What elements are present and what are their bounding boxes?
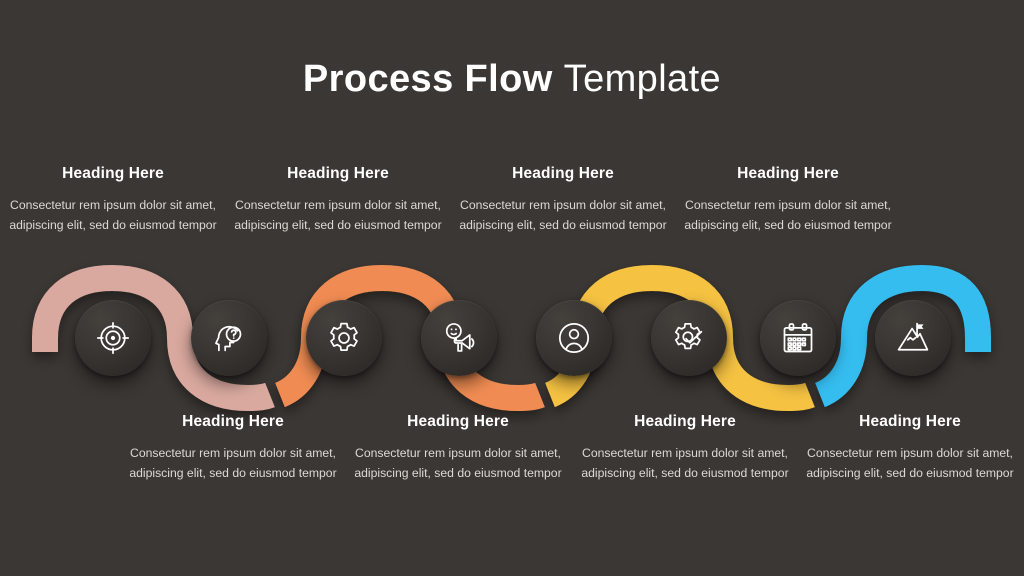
title-light-part: Template (564, 58, 721, 100)
step-text-7: Heading Here Consectetur rem ipsum dolor… (675, 165, 901, 236)
step-text-6: Heading Here Consectetur rem ipsum dolor… (572, 413, 798, 484)
step-heading-3: Heading Here (225, 165, 451, 183)
step-heading-1: Heading Here (0, 165, 226, 183)
page-title: Process Flow Template (0, 58, 1024, 101)
title-bold-part: Process Flow (303, 58, 553, 100)
step-heading-2: Heading Here (120, 413, 346, 431)
step-heading-4: Heading Here (345, 413, 571, 431)
step-node-1[interactable] (75, 300, 151, 376)
megaphone-icon (441, 320, 477, 356)
step-text-1: Heading Here Consectetur rem ipsum dolor… (0, 165, 226, 236)
step-body-5: Consectetur rem ipsum dolor sit amet, ad… (450, 196, 676, 236)
target-icon (95, 320, 131, 356)
step-body-1: Consectetur rem ipsum dolor sit amet, ad… (0, 196, 226, 236)
step-heading-6: Heading Here (572, 413, 798, 431)
user-circle-icon (556, 320, 592, 356)
step-heading-8: Heading Here (797, 413, 1023, 431)
step-text-8: Heading Here Consectetur rem ipsum dolor… (797, 413, 1023, 484)
process-flow-ribbon (0, 255, 1024, 425)
step-heading-7: Heading Here (675, 165, 901, 183)
head-question-icon (211, 320, 247, 356)
slide-canvas: Process Flow Template (0, 0, 1024, 576)
step-body-6: Consectetur rem ipsum dolor sit amet, ad… (572, 444, 798, 484)
step-body-4: Consectetur rem ipsum dolor sit amet, ad… (345, 444, 571, 484)
step-text-4: Heading Here Consectetur rem ipsum dolor… (345, 413, 571, 484)
step-body-7: Consectetur rem ipsum dolor sit amet, ad… (675, 196, 901, 236)
step-node-8[interactable] (875, 300, 951, 376)
mountain-flag-icon (895, 320, 931, 356)
step-body-8: Consectetur rem ipsum dolor sit amet, ad… (797, 444, 1023, 484)
step-text-2: Heading Here Consectetur rem ipsum dolor… (120, 413, 346, 484)
step-node-6[interactable] (651, 300, 727, 376)
step-heading-5: Heading Here (450, 165, 676, 183)
step-body-2: Consectetur rem ipsum dolor sit amet, ad… (120, 444, 346, 484)
step-body-3: Consectetur rem ipsum dolor sit amet, ad… (225, 196, 451, 236)
step-node-7[interactable] (760, 300, 836, 376)
step-node-3[interactable] (306, 300, 382, 376)
step-text-3: Heading Here Consectetur rem ipsum dolor… (225, 165, 451, 236)
step-node-4[interactable] (421, 300, 497, 376)
gear-check-icon (671, 320, 707, 356)
gear-icon (326, 320, 362, 356)
step-node-5[interactable] (536, 300, 612, 376)
step-text-5: Heading Here Consectetur rem ipsum dolor… (450, 165, 676, 236)
step-node-2[interactable] (191, 300, 267, 376)
calendar-icon (780, 320, 816, 356)
